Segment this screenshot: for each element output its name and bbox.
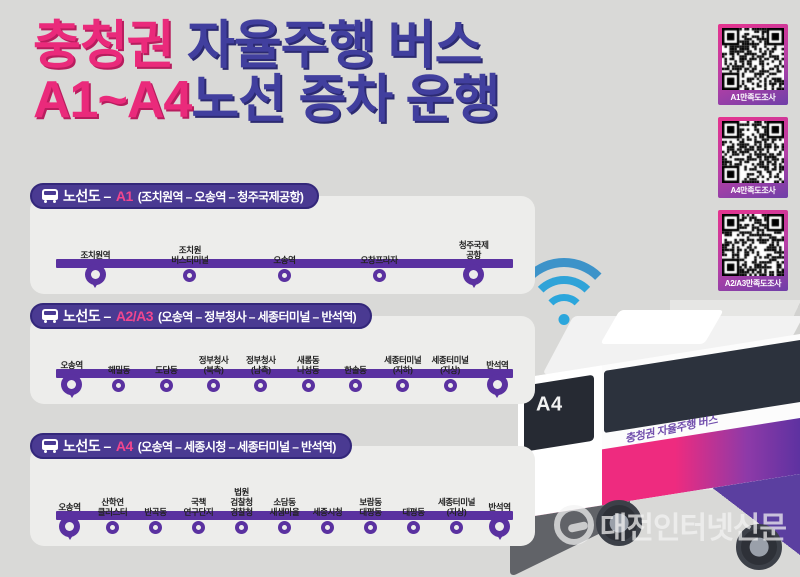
station-label: 정부청사 (북측) <box>199 355 229 375</box>
station[interactable]: 조치원 버스터미널 <box>143 245 238 282</box>
route-subtitle-a4: (오송역 – 세종시청 – 세종터미널 – 반석역) <box>138 438 336 455</box>
station-label: 새롬동 나성동 <box>297 355 319 375</box>
station-list-a4: 오송역산학연 클러스터반곡동국책 연구단지법원 검찰청 경찰청소담동 새샘마을세… <box>48 472 521 534</box>
station-pin-hole <box>495 522 504 531</box>
qr-label-a4: A4만족도조사 <box>731 185 776 196</box>
station-label: 반곡동 <box>144 507 166 517</box>
route-subtitle-a1: (조치원역 – 오송역 – 청주국제공항) <box>138 188 304 205</box>
station-label: 해밀동 <box>108 365 130 375</box>
station-pin-marker[interactable] <box>463 264 484 285</box>
station-dot-marker[interactable] <box>364 521 377 534</box>
qr-label-a2a3: A2/A3만족도조사 <box>725 278 781 289</box>
bus-icon <box>42 439 58 453</box>
station-pin-hole <box>91 270 100 279</box>
station-dot-marker[interactable] <box>183 269 196 282</box>
qr-code-image-a4[interactable] <box>722 121 784 183</box>
station[interactable]: 반석역 <box>474 360 521 392</box>
watermark: 대전인터넷신문 <box>554 503 786 547</box>
title-line-1-pink: 충청권 <box>33 17 174 75</box>
bus-icon <box>42 189 58 203</box>
station-label: 정부청사 (남측) <box>246 355 276 375</box>
station-list-a1: 조치원역조치원 버스터미널오송역오창프라자청주국제 공항 <box>48 220 521 282</box>
station-label: 세종터미널 (지하) <box>384 355 421 375</box>
station-label: 조치원역 <box>80 250 110 260</box>
title-line-2: A1~A4노선 증차 운행 <box>33 74 499 128</box>
qr-code-stack: A1만족도조사 A4만족도조사 A2/A3만족도조사 <box>718 24 788 291</box>
station-label: 한솔동 <box>344 365 366 375</box>
station-label: 세종시청 <box>313 507 343 517</box>
station[interactable]: 조치원역 <box>48 250 143 282</box>
station[interactable]: 보람동 대평동 <box>349 497 392 534</box>
route-badge-label-a4: 노선도 – <box>63 436 111 456</box>
watermark-text: 대전인터넷신문 <box>600 503 786 547</box>
title-line-1-navy: 자율주행 버스 <box>187 17 482 75</box>
station-label: 도담동 <box>155 365 177 375</box>
station[interactable]: 반곡동 <box>134 507 177 534</box>
station-label: 반석역 <box>488 502 510 512</box>
station-dot-marker[interactable] <box>450 521 463 534</box>
station[interactable]: 세종터미널 (지상) <box>435 497 478 534</box>
station-dot-marker[interactable] <box>207 379 220 392</box>
station[interactable]: 대평동 <box>392 507 435 534</box>
route-line-a1: 조치원역조치원 버스터미널오송역오창프라자청주국제 공항 <box>48 220 521 282</box>
station-dot-marker[interactable] <box>112 379 125 392</box>
station-dot-marker[interactable] <box>321 521 334 534</box>
route-badge-a2a3[interactable]: 노선도 – A2/A3 (오송역 – 정부청사 – 세종터미널 – 반석역) <box>30 303 372 329</box>
route-code-a4: A4 <box>116 438 133 454</box>
title-line-1: 충청권 자율주행 버스 <box>33 20 499 74</box>
station[interactable]: 산학연 클러스터 <box>91 497 134 534</box>
station-pin-marker[interactable] <box>59 516 80 537</box>
station-dot-marker[interactable] <box>396 379 409 392</box>
station[interactable]: 오창프라자 <box>332 255 427 282</box>
station-dot-marker[interactable] <box>254 379 267 392</box>
station-dot-marker[interactable] <box>160 379 173 392</box>
station-label: 세종터미널 (지상) <box>431 355 468 375</box>
station-label: 반석역 <box>486 360 508 370</box>
station-dot-marker[interactable] <box>106 521 119 534</box>
station-label: 청주국제 공항 <box>459 240 489 260</box>
station[interactable]: 오송역 <box>48 502 91 534</box>
station-label: 오창프라자 <box>361 255 398 265</box>
route-badge-a1[interactable]: 노선도 – A1 (조치원역 – 오송역 – 청주국제공항) <box>30 183 319 209</box>
station-label: 조치원 버스터미널 <box>171 245 208 265</box>
station[interactable]: 세종터미널 (지상) <box>426 355 473 392</box>
station-pin-marker[interactable] <box>61 374 82 395</box>
station-label: 세종터미널 (지상) <box>438 497 475 517</box>
station-label: 오송역 <box>58 502 80 512</box>
station[interactable]: 국책 연구단지 <box>177 497 220 534</box>
station-label: 소담동 새샘마을 <box>270 497 300 517</box>
qr-code-image-a1[interactable] <box>722 28 784 90</box>
station-dot-marker[interactable] <box>278 521 291 534</box>
route-code-a1: A1 <box>116 188 133 204</box>
bus-roof-sensor <box>600 310 724 344</box>
qr-label-a1: A1만족도조사 <box>731 92 776 103</box>
route-badge-a4[interactable]: 노선도 – A4 (오송역 – 세종시청 – 세종터미널 – 반석역) <box>30 433 352 459</box>
route-subtitle-a2a3: (오송역 – 정부청사 – 세종터미널 – 반석역) <box>158 308 356 325</box>
qr-card-a1[interactable]: A1만족도조사 <box>718 24 788 105</box>
station[interactable]: 정부청사 (남측) <box>237 355 284 392</box>
station[interactable]: 세종시청 <box>306 507 349 534</box>
station-dot-marker[interactable] <box>278 269 291 282</box>
station[interactable]: 반석역 <box>478 502 521 534</box>
route-code-a2a3: A2/A3 <box>116 308 153 324</box>
station-dot-marker[interactable] <box>302 379 315 392</box>
station[interactable]: 도담동 <box>143 365 190 392</box>
station-label: 오송역 <box>273 255 295 265</box>
station[interactable]: 법원 검찰청 경찰청 <box>220 487 263 534</box>
route-card-a2a3: 오송역해밀동도담동정부청사 (북측)정부청사 (남측)새롬동 나성동한솔동세종터… <box>30 316 535 404</box>
station-pin-hole <box>65 522 74 531</box>
station[interactable]: 청주국제 공항 <box>426 240 521 282</box>
station-label: 법원 검찰청 경찰청 <box>230 487 252 517</box>
station[interactable]: 세종터미널 (지하) <box>379 355 426 392</box>
station-label: 보람동 대평동 <box>359 497 381 517</box>
station-dot-marker[interactable] <box>349 379 362 392</box>
station-list-a2a3: 오송역해밀동도담동정부청사 (북측)정부청사 (남측)새롬동 나성동한솔동세종터… <box>48 330 521 392</box>
station-dot-marker[interactable] <box>192 521 205 534</box>
qr-card-a2a3[interactable]: A2/A3만족도조사 <box>718 210 788 291</box>
station-label: 오송역 <box>61 360 83 370</box>
station-pin-hole <box>493 380 502 389</box>
station[interactable]: 오송역 <box>48 360 95 392</box>
station-dot-marker[interactable] <box>444 379 457 392</box>
station-pin-hole <box>469 270 478 279</box>
station-pin-marker[interactable] <box>489 516 510 537</box>
station-label: 국책 연구단지 <box>184 497 214 517</box>
bus-route-number: A4 <box>536 394 563 417</box>
station-dot-marker[interactable] <box>149 521 162 534</box>
station-label: 산학연 클러스터 <box>98 497 128 517</box>
station-pin-marker[interactable] <box>487 374 508 395</box>
station-dot-marker[interactable] <box>235 521 248 534</box>
title-line-2-navy: 노선 증차 운행 <box>191 71 499 129</box>
watermark-logo-icon <box>554 505 594 545</box>
station[interactable]: 해밀동 <box>95 365 142 392</box>
station[interactable]: 한솔동 <box>332 365 379 392</box>
route-badge-label-a2a3: 노선도 – <box>63 306 111 326</box>
station[interactable]: 새롬동 나성동 <box>284 355 331 392</box>
station-pin-hole <box>67 380 76 389</box>
qr-code-image-a2a3[interactable] <box>722 214 784 276</box>
route-card-a4: 오송역산학연 클러스터반곡동국책 연구단지법원 검찰청 경찰청소담동 새샘마을세… <box>30 446 535 546</box>
station-pin-marker[interactable] <box>85 264 106 285</box>
route-line-a4: 오송역산학연 클러스터반곡동국책 연구단지법원 검찰청 경찰청소담동 새샘마을세… <box>48 472 521 534</box>
station-label: 대평동 <box>402 507 424 517</box>
route-line-a2a3: 오송역해밀동도담동정부청사 (북측)정부청사 (남측)새롬동 나성동한솔동세종터… <box>48 330 521 392</box>
title-line-2-pink: A1~A4 <box>33 71 191 129</box>
station-dot-marker[interactable] <box>373 269 386 282</box>
station[interactable]: 소담동 새샘마을 <box>263 497 306 534</box>
route-badge-label-a1: 노선도 – <box>63 186 111 206</box>
qr-card-a4[interactable]: A4만족도조사 <box>718 117 788 198</box>
station[interactable]: 오송역 <box>237 255 332 282</box>
station-dot-marker[interactable] <box>407 521 420 534</box>
poster-title: 충청권 자율주행 버스 A1~A4노선 증차 운행 <box>33 20 499 127</box>
route-card-a1: 조치원역조치원 버스터미널오송역오창프라자청주국제 공항 <box>30 196 535 294</box>
bus-icon <box>42 309 58 323</box>
station[interactable]: 정부청사 (북측) <box>190 355 237 392</box>
